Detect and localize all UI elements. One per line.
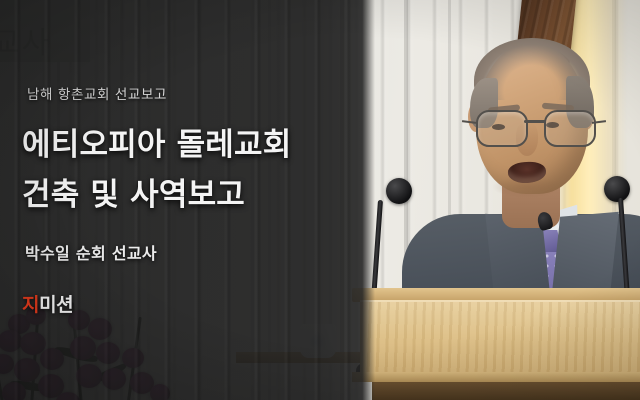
title-line-2: 건축 및 사역보고 (22, 180, 245, 211)
brand-logo: 지미션 (22, 290, 73, 317)
title-line-1: 에티오피아 돌레교회 (22, 130, 291, 161)
eyebrow-text: 남해 항촌교회 선교보고 (27, 83, 167, 103)
video-title-slide: 교사 (0, 0, 640, 400)
brand-logo-mark: 지 (22, 294, 39, 316)
title-text-layer: 남해 항촌교회 선교보고 에티오피아 돌레교회 건축 및 사역보고 박수일 순회… (0, 0, 640, 400)
presenter-name: 박수일 순회 선교사 (25, 240, 157, 264)
brand-logo-word: 미션 (39, 294, 73, 316)
